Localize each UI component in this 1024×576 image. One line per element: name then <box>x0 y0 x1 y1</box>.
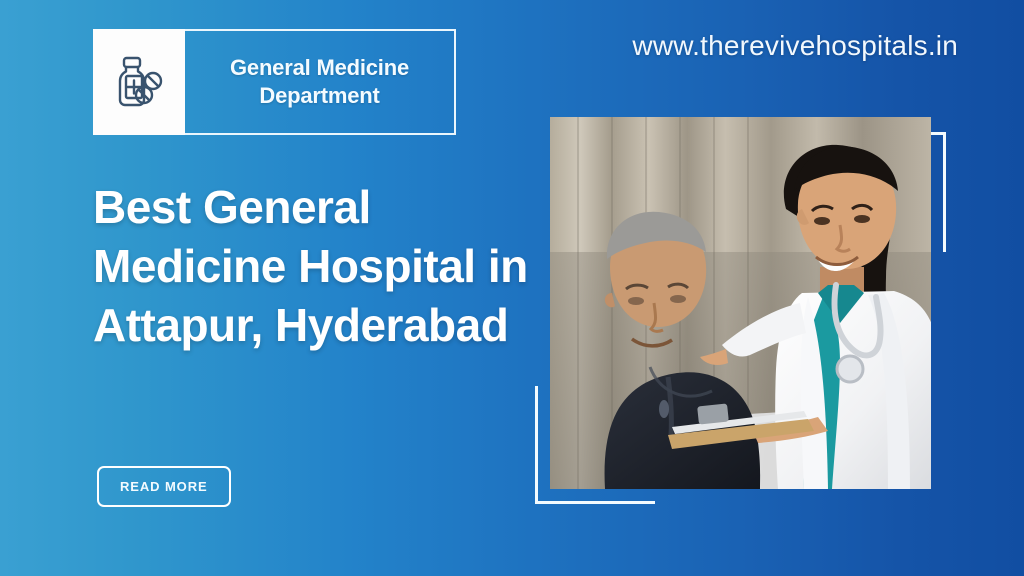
badge-title: General Medicine Department <box>195 54 444 110</box>
hero-banner: General Medicine Department www.thereviv… <box>0 0 1024 576</box>
badge-panel: General Medicine Department <box>185 29 456 135</box>
hero-photo <box>550 117 931 489</box>
badge-icon-box <box>93 29 185 135</box>
read-more-button[interactable]: READ MORE <box>97 466 231 507</box>
hero-photo-frame <box>550 117 931 489</box>
department-badge: General Medicine Department <box>93 29 456 135</box>
website-url: www.therevivehospitals.in <box>632 30 958 62</box>
page-title: Best General Medicine Hospital in Attapu… <box>93 178 563 355</box>
medicine-bottle-pills-icon <box>108 51 170 113</box>
